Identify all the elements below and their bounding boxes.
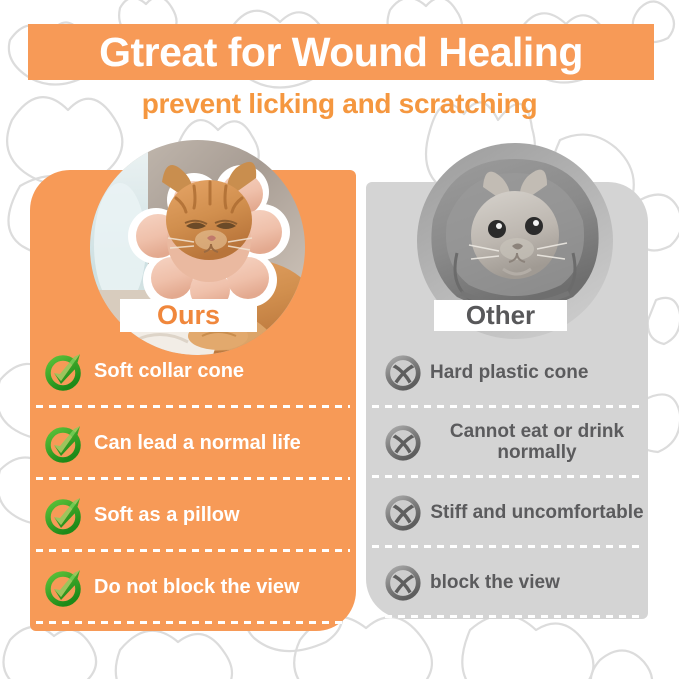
feature-row-ours: Soft collar cone [36, 336, 350, 408]
drawback-row-other: Stiff and uncomfortable [372, 478, 644, 548]
feature-row-ours: Can lead a normal life [36, 408, 350, 480]
drawback-row-other: Hard plastic cone [372, 338, 644, 408]
label-ours-text: Ours [157, 300, 220, 331]
gray-cross-icon [384, 354, 422, 392]
feature-row-ours: Do not block the view [36, 552, 350, 624]
page-subtitle: prevent licking and scratching [0, 88, 679, 120]
label-other: Other [434, 300, 567, 331]
drawback-row-other: block the view [372, 548, 644, 618]
row-separator [372, 615, 644, 618]
green-check-icon [44, 496, 84, 536]
infographic-canvas: Gtreat for Wound Healing prevent licking… [0, 0, 679, 679]
drawback-row-other: Cannot eat or drink normally [372, 408, 644, 478]
label-other-text: Other [466, 300, 535, 331]
features-ours: Soft collar cone Can lead a normal life [36, 336, 350, 624]
title-banner: Gtreat for Wound Healing [28, 24, 654, 80]
feature-row-ours: Soft as a pillow [36, 480, 350, 552]
drawback-label: Cannot eat or drink normally [430, 422, 644, 463]
green-check-icon [44, 568, 84, 608]
features-other: Hard plastic cone Cannot eat or drink no… [372, 338, 644, 618]
gray-cross-icon [384, 564, 422, 602]
label-ours: Ours [120, 299, 257, 332]
gray-cross-icon [384, 494, 422, 532]
feature-label: Soft as a pillow [94, 505, 240, 527]
green-check-icon [44, 352, 84, 392]
gray-cross-icon [384, 424, 422, 462]
row-separator [36, 621, 350, 624]
feature-label: Soft collar cone [94, 361, 244, 383]
feature-label: Do not block the view [94, 577, 300, 599]
drawback-label: block the view [430, 573, 560, 594]
drawback-label: Hard plastic cone [430, 363, 588, 384]
feature-label: Can lead a normal life [94, 433, 301, 455]
page-title: Gtreat for Wound Healing [99, 32, 583, 73]
green-check-icon [44, 424, 84, 464]
drawback-label: Stiff and uncomfortable [430, 503, 644, 524]
